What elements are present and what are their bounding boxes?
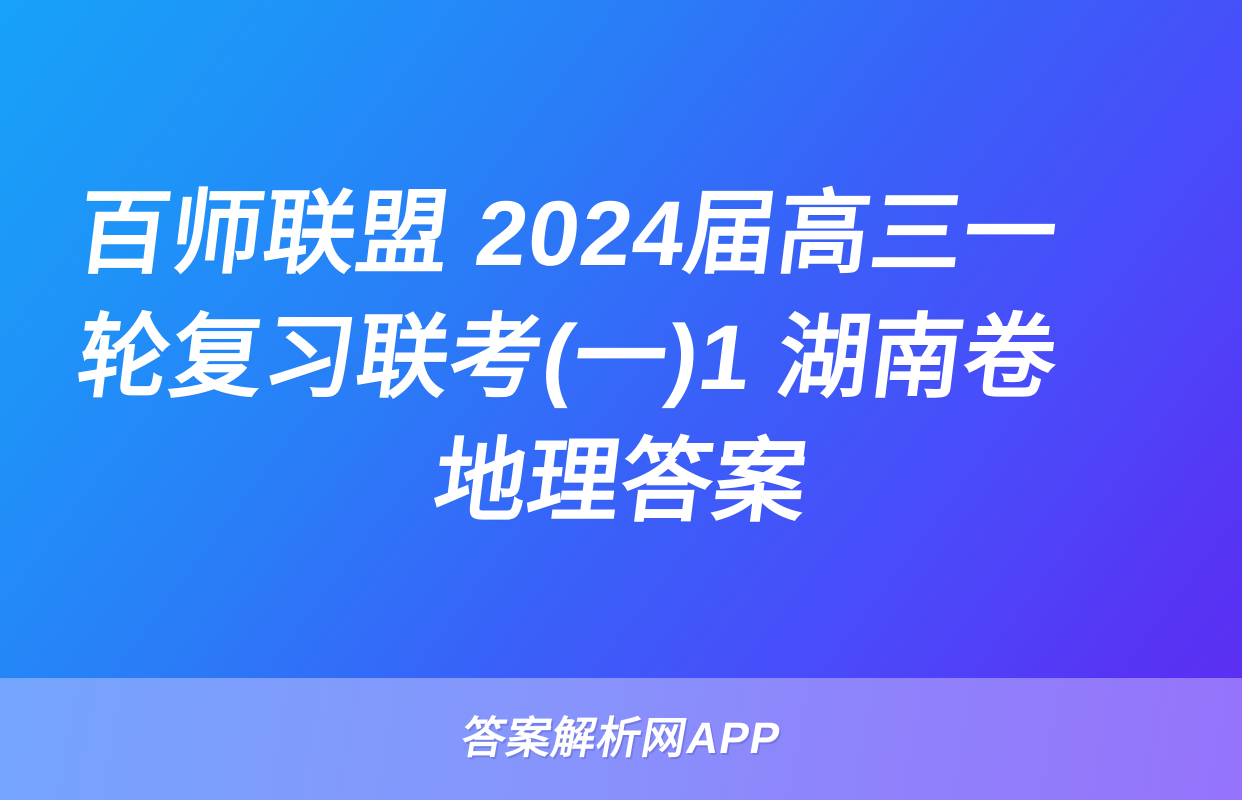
- title-line-2: 轮复习联考(一)1 湖南卷: [52, 296, 1189, 420]
- poster-canvas: 百师联盟 2024届高三一 轮复习联考(一)1 湖南卷 地理答案 答案解析网AP…: [0, 0, 1242, 800]
- title-line-1: 百师联盟 2024届高三一: [52, 172, 1189, 296]
- title-line-3: 地理答案: [52, 420, 1189, 544]
- watermark-label: 答案解析网APP: [458, 717, 784, 761]
- poster-title: 百师联盟 2024届高三一 轮复习联考(一)1 湖南卷 地理答案: [0, 172, 1242, 544]
- watermark-band: 答案解析网APP: [0, 678, 1242, 800]
